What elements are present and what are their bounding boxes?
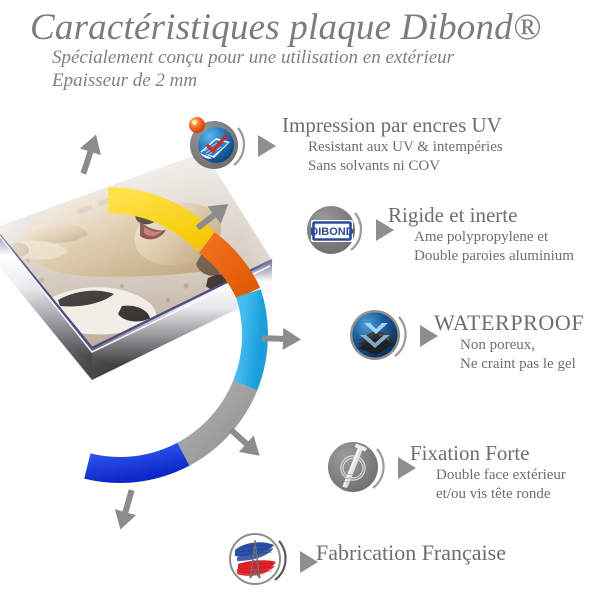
page-title: Caractéristiques plaque Dibond® [30,6,590,50]
feature-line-1: Double face extérieur [410,466,566,485]
dibond-badge-text: DIBOND [310,226,353,238]
ring-segment-uv [108,200,207,243]
waterproof-layers-icon [344,304,410,370]
feature-title: WATERPROOF [434,310,584,336]
feature-line-2: Double paroies aluminium [388,247,574,266]
dibond-badge-icon: DIBOND [300,200,366,266]
feature-text-block: Impression par encres UV Resistant aux U… [282,112,503,176]
ring-segment-fixation [183,386,245,455]
uv-printing-icon [182,112,248,178]
arrowhead-icon [254,132,280,160]
feature-text-block: WATERPROOF Non poreux, Ne craint pas le … [434,310,584,374]
page-subtitle-line-1: Spécialement conçu pour une utilisation … [52,46,454,70]
screw-fixing-icon [322,436,388,502]
french-flag-eiffel-icon [224,528,290,594]
feature-text-block: Rigide et inerte Ame polypropylene et Do… [388,202,574,266]
feature-line-1: Non poreux, [434,336,584,355]
segmented-color-ring [0,95,320,575]
feature-text-block: Fabrication Française [316,540,506,566]
feature-text-block: Fixation Forte Double face extérieur et/… [410,440,566,504]
feature-line-1: Resistant aux UV & intempéries [282,138,503,157]
feature-line-2: Sans solvants ni COV [282,157,503,176]
feature-title: Fixation Forte [410,440,566,466]
ring-segment-rigide [207,243,249,294]
infographic-canvas: Caractéristiques plaque Dibond® Spéciale… [0,0,600,600]
page-subtitle-line-2: Epaisseur de 2 mm [52,69,197,93]
feature-line-2: Ne craint pas le gel [434,355,584,374]
ring-segment-fabrication [87,454,183,470]
feature-title: Impression par encres UV [282,112,503,138]
feature-title: Rigide et inerte [388,202,574,228]
feature-line-1: Ame polypropylene et [388,228,574,247]
feature-line-2: et/ou vis tête ronde [410,485,566,504]
ring-segment-waterproof [245,293,255,385]
feature-title: Fabrication Française [316,540,506,566]
